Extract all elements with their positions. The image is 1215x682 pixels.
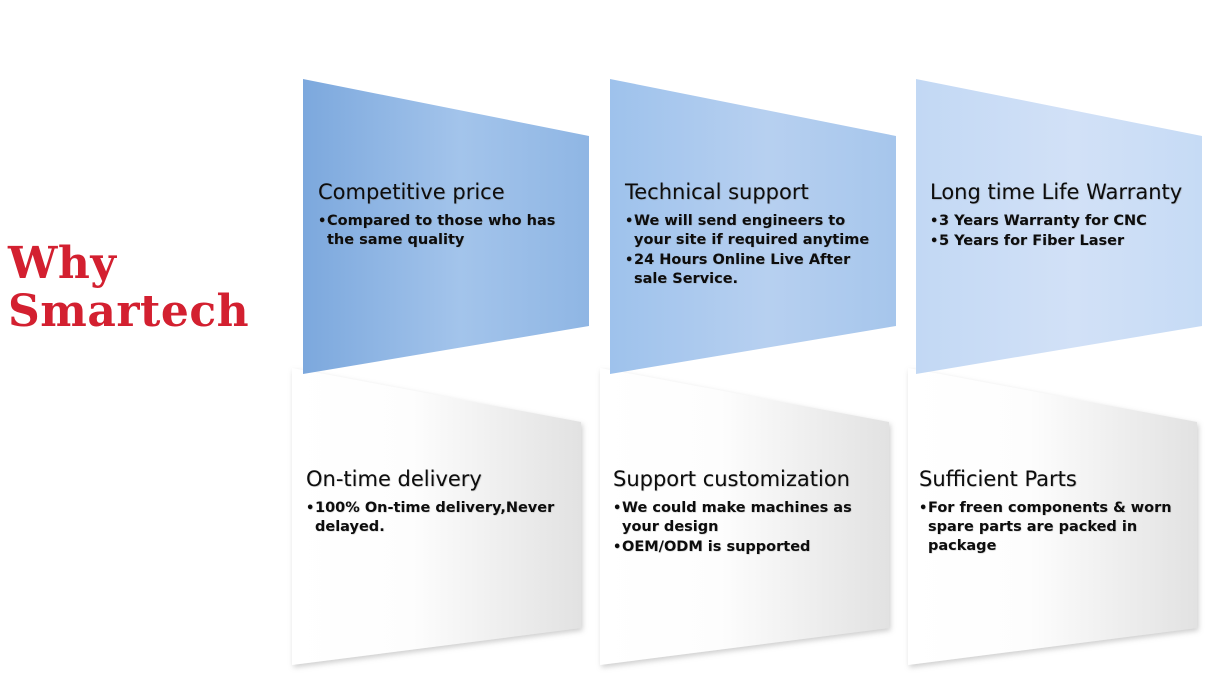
bottom-panel-2[interactable]: Sufficient Parts For freen components & … <box>919 467 1181 557</box>
bottom-panel-1-title: Support customization <box>613 467 875 492</box>
title-text: Why Smartech <box>8 240 249 336</box>
title-line-2: Smartech <box>8 288 249 336</box>
bottom-panel-1[interactable]: Support customization We could make mach… <box>613 467 875 558</box>
title-line-1: Why <box>8 240 249 288</box>
bottom-panel-0-bullets: 100% On-time delivery,Never delayed. <box>306 499 568 537</box>
bullet-item: Compared to those who has the same quali… <box>318 212 580 250</box>
slide-title: Why Smartech Why Smartech <box>8 240 278 400</box>
bottom-panel-2-title: Sufficient Parts <box>919 467 1181 492</box>
top-panel-1-bullets: We will send engineers to your site if r… <box>625 212 887 289</box>
bullet-item: We will send engineers to your site if r… <box>625 212 887 250</box>
top-panel-2[interactable]: Long time Life Warranty 3 Years Warranty… <box>930 180 1192 252</box>
top-panel-1-title: Technical support <box>625 180 887 205</box>
top-panel-0-title: Competitive price <box>318 180 580 205</box>
bottom-panel-1-bullets: We could make machines as your design OE… <box>613 499 875 557</box>
bottom-panel-0-title: On-time delivery <box>306 467 568 492</box>
bullet-item: 24 Hours Online Live After sale Service. <box>625 251 887 289</box>
top-panel-2-bullets: 3 Years Warranty for CNC 5 Years for Fib… <box>930 212 1192 251</box>
top-panel-1[interactable]: Technical support We will send engineers… <box>625 180 887 290</box>
top-panel-0-bullets: Compared to those who has the same quali… <box>318 212 580 250</box>
top-panel-2-title: Long time Life Warranty <box>930 180 1192 205</box>
bottom-panel-0[interactable]: On-time delivery 100% On-time delivery,N… <box>306 467 568 538</box>
top-panel-0[interactable]: Competitive price Compared to those who … <box>318 180 580 251</box>
bullet-item: We could make machines as your design <box>613 499 875 537</box>
bullet-item: 3 Years Warranty for CNC <box>930 212 1192 231</box>
bullet-item: 100% On-time delivery,Never delayed. <box>306 499 568 537</box>
bullet-item: 5 Years for Fiber Laser <box>930 232 1192 251</box>
bullet-item: OEM/ODM is supported <box>613 538 875 557</box>
slide-canvas: Why Smartech Why Smartech Competitive pr… <box>0 0 1215 682</box>
bottom-panel-2-bullets: For freen components & worn spare parts … <box>919 499 1181 556</box>
bullet-item: For freen components & worn spare parts … <box>919 499 1181 556</box>
